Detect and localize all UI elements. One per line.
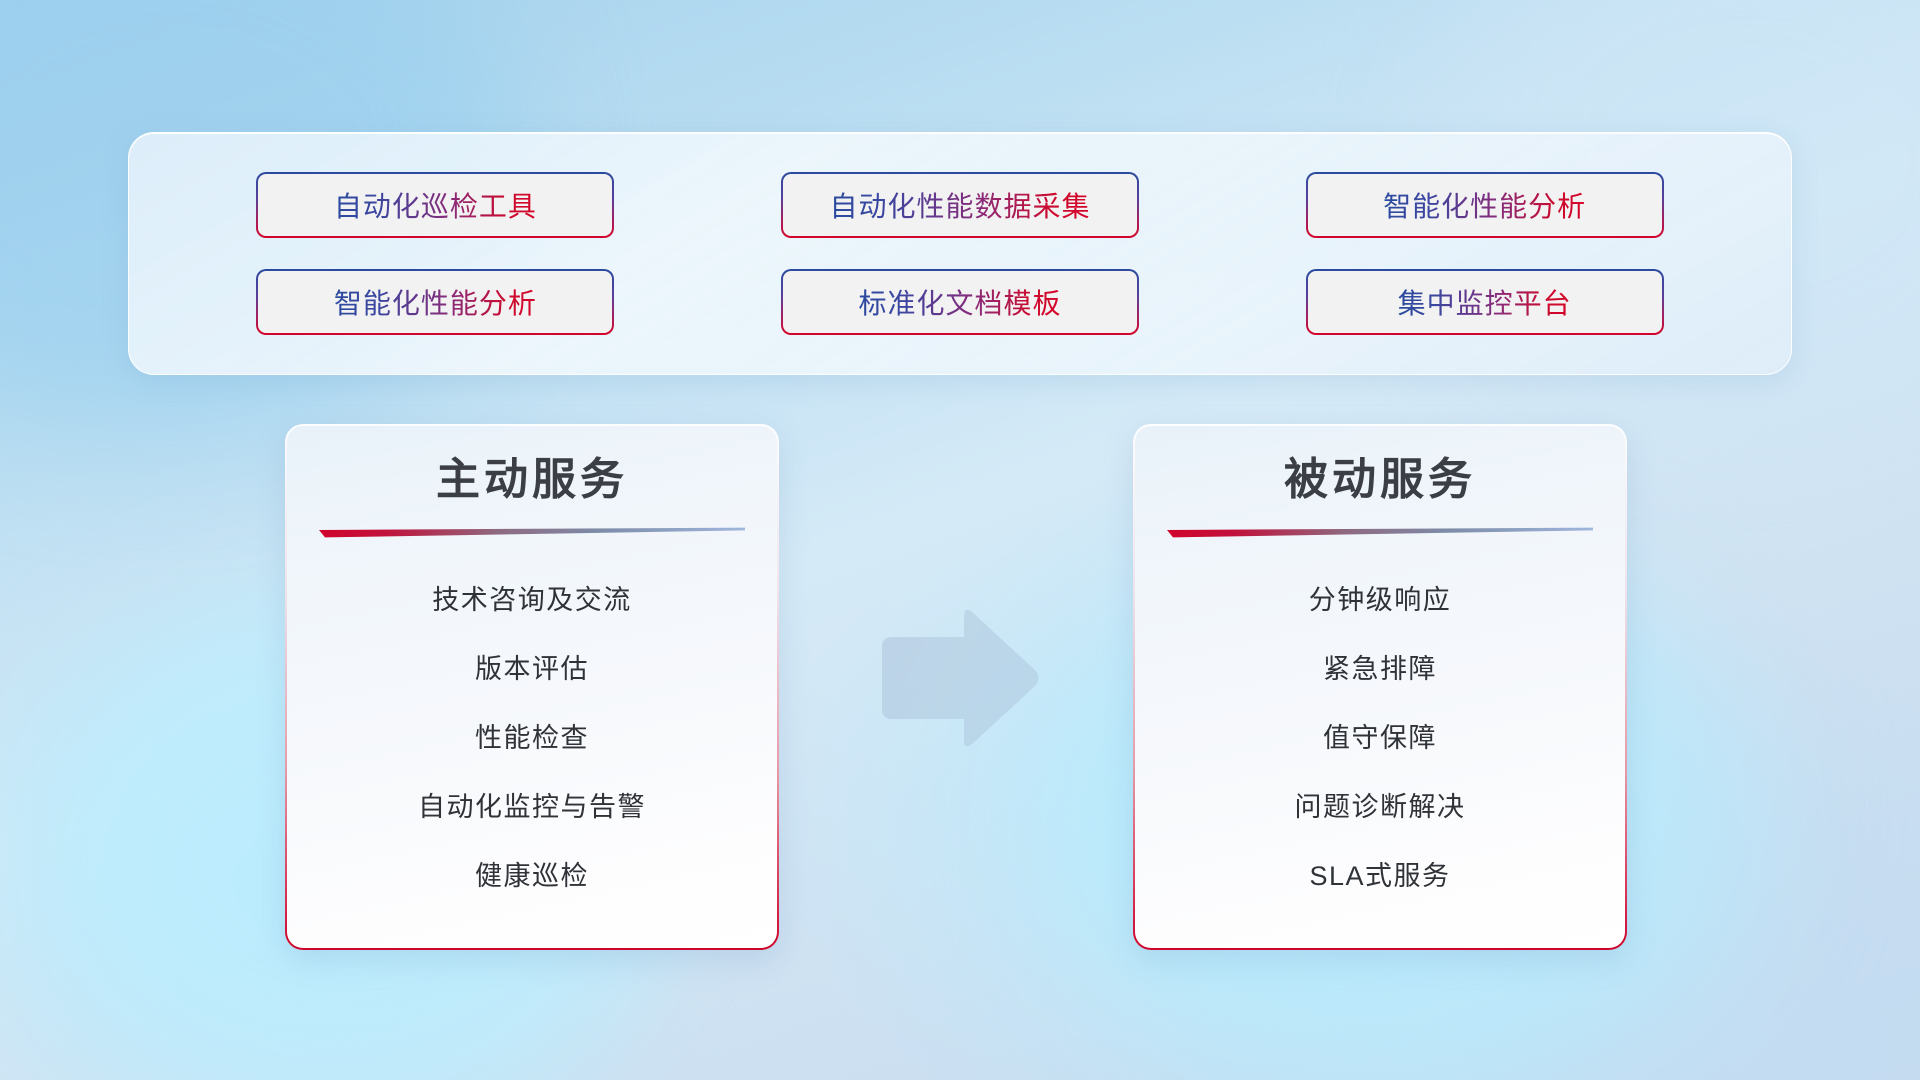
arrow-right-icon (872, 604, 1042, 752)
list-item: 紧急排障 (1323, 635, 1437, 704)
capability-pill-label: 自动化巡检工具 (334, 185, 537, 225)
capability-pill-1[interactable]: 自动化巡检工具 (256, 172, 614, 238)
list-item: 值守保障 (1323, 704, 1437, 773)
capability-pill-label: 智能化性能分析 (1383, 185, 1586, 225)
card-title: 主动服务 (436, 454, 628, 507)
capability-pill-5[interactable]: 标准化文档模板 (781, 269, 1139, 335)
capability-pill-3[interactable]: 智能化性能分析 (1306, 172, 1664, 238)
capability-pill-6[interactable]: 集中监控平台 (1306, 269, 1664, 335)
list-item: 分钟级响应 (1309, 566, 1452, 635)
list-item: 性能检查 (475, 704, 589, 773)
card-item-list: 技术咨询及交流 版本评估 性能检查 自动化监控与告警 健康巡检 (287, 566, 777, 911)
list-item: 健康巡检 (475, 842, 589, 911)
capability-pill-label: 标准化文档模板 (858, 282, 1061, 322)
service-card-passive: 被动服务 分钟级响应 紧急排障 值守保障 问题诊断解决 (1133, 424, 1627, 950)
list-item: 版本评估 (475, 635, 589, 704)
list-item: 技术咨询及交流 (432, 566, 632, 635)
list-item: 问题诊断解决 (1295, 773, 1466, 842)
capability-panel: 自动化巡检工具 自动化性能数据采集 智能化性能分析 智能化性能分析 标准化文档模… (128, 132, 1792, 375)
capability-pill-label: 自动化性能数据采集 (829, 185, 1090, 225)
card-title: 被动服务 (1284, 454, 1476, 507)
capability-pill-label: 智能化性能分析 (334, 282, 537, 322)
capability-pill-label: 集中监控平台 (1398, 282, 1572, 322)
diagram-canvas: 自动化巡检工具 自动化性能数据采集 智能化性能分析 智能化性能分析 标准化文档模… (0, 0, 1920, 1080)
card-title-divider (1167, 527, 1593, 538)
card-title-divider (319, 527, 745, 538)
capability-pill-4[interactable]: 智能化性能分析 (256, 269, 614, 335)
list-item: SLA式服务 (1309, 842, 1450, 911)
list-item: 自动化监控与告警 (418, 773, 646, 842)
card-item-list: 分钟级响应 紧急排障 值守保障 问题诊断解决 SLA式服务 (1135, 566, 1625, 911)
capability-pill-2[interactable]: 自动化性能数据采集 (781, 172, 1139, 238)
service-card-active: 主动服务 技术咨询及交流 版本评估 性能检查 自动化监控与告警 (285, 424, 779, 950)
